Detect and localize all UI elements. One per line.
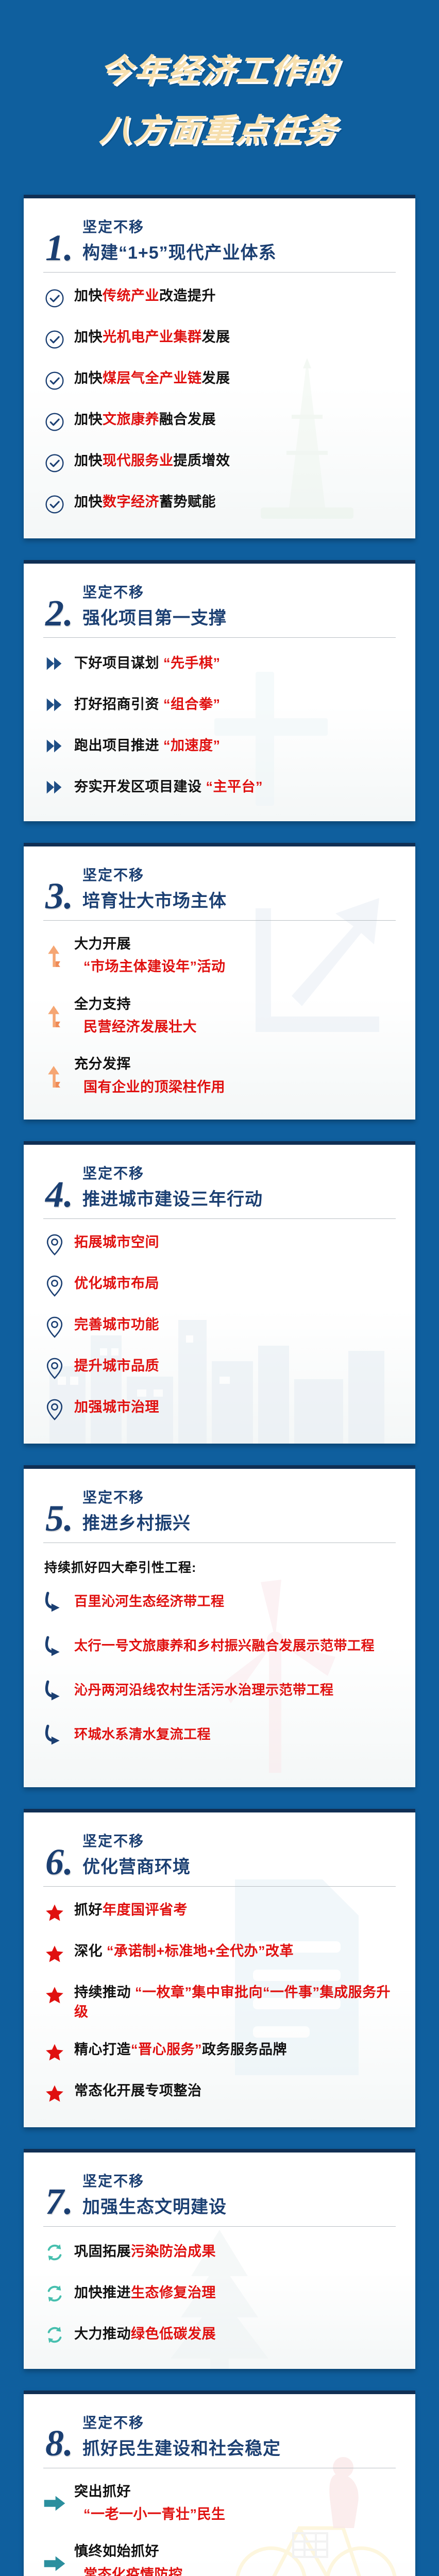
list-item-highlight: 优化城市布局	[74, 1276, 159, 1291]
check-circle-icon	[43, 452, 66, 474]
list-item[interactable]: 百里沁河生态经济带工程	[41, 1589, 398, 1613]
section-title-group: 坚定不移 推进乡村振兴	[82, 1486, 191, 1535]
section-card-1: 1. 坚定不移 构建“1+5”现代产业体系 加快传统产业改造提升 加快光机电产业…	[24, 195, 415, 538]
list-item-lead: 突出抓好	[74, 2482, 226, 2501]
list-item-highlight: “先手棋”	[163, 655, 221, 671]
list-item-text: 加强城市治理	[74, 1397, 159, 1417]
list-item[interactable]: 加强城市治理	[41, 1397, 398, 1421]
list-item-text: 精心打造“晋心服务”政务服务品牌	[74, 2040, 287, 2059]
section-card-7: 7. 坚定不移 加强生态文明建设 巩固拓展污染防治成果 加快推进生态修复治理 大…	[24, 2149, 415, 2369]
orange-up-arrow-icon	[43, 1065, 66, 1088]
list-item-plain: 加快	[74, 412, 103, 427]
list-item-text: 大力开展“市场主体建设年”活动	[74, 934, 226, 977]
list-item[interactable]: 加快光机电产业集群发展	[41, 327, 398, 351]
list-item-highlight: 加强城市治理	[74, 1399, 159, 1415]
list-item-highlight: “晋心服务”	[131, 2042, 202, 2057]
section-divider	[43, 1218, 396, 1219]
section-header: 4. 坚定不移 推进城市建设三年行动	[41, 1162, 398, 1211]
section-title-primary: 坚定不移	[82, 581, 227, 602]
teal-right-arrow-icon	[43, 2492, 66, 2515]
section-title-primary: 坚定不移	[82, 864, 227, 885]
list-item-text: 加快光机电产业集群发展	[74, 327, 230, 347]
list-item-highlight: 污染防治成果	[131, 2244, 216, 2259]
list-item-plain: 加快	[74, 370, 103, 386]
list-item-text: 拓展城市空间	[74, 1232, 159, 1252]
section-number: 4.	[45, 1179, 73, 1211]
list-item[interactable]: 加快文旅康养融合发展	[41, 410, 398, 433]
list-item[interactable]: 加快现代服务业提质增效	[41, 451, 398, 474]
list-item-text: 巩固拓展污染防治成果	[74, 2242, 216, 2261]
check-circle-icon	[43, 411, 66, 433]
hero-title-line-2: 八方面重点任务	[98, 104, 341, 150]
section-title-group: 坚定不移 优化营商环境	[82, 1830, 191, 1879]
list-item-text: 突出抓好“一老一小一青壮”民生	[74, 2482, 226, 2524]
list-item-body: 民营经济发展壮大	[74, 1017, 197, 1037]
red-star-icon	[43, 1984, 66, 2006]
section-card-2: 2. 坚定不移 强化项目第一支撑 下好项目谋划 “先手棋” 打好招商引资 “组合…	[24, 560, 415, 821]
list-item[interactable]: 沁丹两河沿线农村生活污水治理示范带工程	[41, 1678, 398, 1702]
section-divider	[43, 920, 396, 921]
map-pin-icon	[43, 1357, 66, 1380]
list-item-text: 跑出项目推进 “加速度”	[74, 736, 221, 755]
list-item[interactable]: 大力推动绿色低碳发展	[41, 2323, 398, 2346]
list-item[interactable]: 深化 “承诺制+标准地+全代办”改革	[41, 1941, 398, 1965]
list-item-lead: 充分发挥	[74, 1054, 225, 1074]
list-item-plain: 加快	[74, 494, 103, 510]
list-item-highlight: 生态修复治理	[131, 2285, 216, 2300]
list-item-highlight: “组合拳”	[163, 697, 221, 712]
list-item-text: 充分发挥国有企业的顶梁柱作用	[74, 1054, 225, 1097]
list-item-text: 加快传统产业改造提升	[74, 286, 216, 306]
list-item[interactable]: 充分发挥国有企业的顶梁柱作用	[41, 1054, 398, 1097]
section-item-list: 百里沁河生态经济带工程 太行一号文旅康养和乡村振兴融合发展示范带工程 沁丹两河沿…	[41, 1589, 398, 1746]
list-item-plain: 加快	[74, 453, 103, 468]
section-title-primary: 坚定不移	[82, 2412, 281, 2432]
section-divider	[43, 272, 396, 273]
list-item[interactable]: 巩固拓展污染防治成果	[41, 2240, 398, 2264]
section-title-primary: 坚定不移	[82, 1162, 263, 1183]
list-item-text: 加快煤层气全产业链发展	[74, 368, 230, 388]
list-item-plain: 加快	[74, 288, 103, 303]
recycle-arrows-icon	[43, 2324, 66, 2346]
list-item[interactable]: 大力开展“市场主体建设年”活动	[41, 934, 398, 977]
section-item-list: 下好项目谋划 “先手棋” 打好招商引资 “组合拳” 跑出项目推进 “加速度” 夯…	[41, 651, 398, 799]
list-item[interactable]: 跑出项目推进 “加速度”	[41, 734, 398, 757]
section-title-secondary: 培育壮大市场主体	[82, 887, 227, 912]
list-item[interactable]: 加快推进生态修复治理	[41, 2281, 398, 2305]
list-item[interactable]: 全力支持民营经济发展壮大	[41, 994, 398, 1037]
map-pin-icon	[43, 1233, 66, 1256]
list-item-text: 加快数字经济蓄势赋能	[74, 492, 216, 512]
orange-up-arrow-icon	[43, 1005, 66, 1027]
section-title-primary: 坚定不移	[82, 216, 277, 236]
section-divider	[43, 637, 396, 638]
check-circle-icon	[43, 328, 66, 351]
section-item-list: 加快传统产业改造提升 加快光机电产业集群发展 加快煤层气全产业链发展 加快文旅康…	[41, 286, 398, 516]
double-chevron-icon	[43, 693, 66, 716]
section-title-primary: 坚定不移	[82, 1830, 191, 1851]
sections-container: 1. 坚定不移 构建“1+5”现代产业体系 加快传统产业改造提升 加快光机电产业…	[0, 195, 439, 2576]
list-item[interactable]: 下好项目谋划 “先手棋”	[41, 651, 398, 675]
section-divider	[43, 1543, 396, 1543]
list-item-plain: 加快推进	[74, 2285, 131, 2300]
list-item[interactable]: 加快传统产业改造提升	[41, 286, 398, 310]
list-item-text: 加快现代服务业提质增效	[74, 451, 230, 470]
check-circle-icon	[43, 369, 66, 392]
curved-arrow-icon	[43, 1723, 66, 1746]
list-item-plain: 持续推动	[74, 1985, 135, 2000]
list-item-tail: 融合发展	[159, 412, 216, 427]
list-item-lead: 全力支持	[74, 994, 197, 1014]
list-item-lead: 大力开展	[74, 934, 226, 954]
section-title-secondary: 推进城市建设三年行动	[82, 1185, 263, 1210]
list-item-text: 慎终如始抓好常态化疫情防控	[74, 2541, 183, 2576]
list-item-text: 大力推动绿色低碳发展	[74, 2324, 216, 2344]
list-item-text: 加快文旅康养融合发展	[74, 410, 216, 429]
list-item[interactable]: 精心打造“晋心服务”政务服务品牌	[41, 2040, 398, 2063]
section-divider	[43, 2226, 396, 2227]
list-item[interactable]: 拓展城市空间	[41, 1232, 398, 1256]
list-item-text: 夯实开发区项目建设 “主平台”	[74, 777, 263, 796]
list-item-tail: 提质增效	[174, 453, 230, 468]
list-item-highlight: “承诺制+标准地+全代办”改革	[107, 1943, 294, 1959]
section-header: 2. 坚定不移 强化项目第一支撑	[41, 581, 398, 630]
list-item-text: 加快推进生态修复治理	[74, 2283, 216, 2302]
section-card-4: 4. 坚定不移 推进城市建设三年行动 拓展城市空间 优化城市布局 完善城市功能 …	[24, 1141, 415, 1444]
section-item-list: 突出抓好“一老一小一青壮”民生 慎终如始抓好常态化疫情防控 坚决守牢安全生产底线…	[41, 2482, 398, 2576]
section-card-8: 8. 坚定不移 抓好民生建设和社会稳定 突出抓好“一老一小一青壮”民生 慎终如始…	[24, 2391, 415, 2576]
section-title-secondary: 强化项目第一支撑	[82, 604, 227, 629]
section-number: 5.	[45, 1503, 73, 1535]
list-item-highlight: “加速度”	[163, 738, 221, 753]
red-star-icon	[43, 2082, 66, 2105]
curved-arrow-icon	[43, 1635, 66, 1657]
list-item[interactable]: 持续推动 “一枚章”集中审批向“一件事”集成服务升级	[41, 1982, 398, 2022]
hero-title-line-1: 今年经济工作的	[98, 44, 341, 91]
double-chevron-icon	[43, 735, 66, 757]
list-item-highlight: 提升城市品质	[74, 1358, 159, 1374]
list-item-text: 提升城市品质	[74, 1356, 159, 1376]
red-star-icon	[43, 1901, 66, 1924]
section-title-secondary: 优化营商环境	[82, 1853, 191, 1878]
list-item-text: 下好项目谋划 “先手棋”	[74, 653, 221, 673]
section-card-6: 6. 坚定不移 优化营商环境 抓好年度国评省考 深化 “承诺制+标准地+全代办”…	[24, 1809, 415, 2127]
check-circle-icon	[43, 287, 66, 310]
section-title-group: 坚定不移 加强生态文明建设	[82, 2170, 227, 2219]
list-item-plain: 大力推动	[74, 2326, 131, 2342]
list-item-highlight: 拓展城市空间	[74, 1234, 159, 1250]
section-title-secondary: 构建“1+5”现代产业体系	[82, 239, 277, 264]
list-item-text: 沁丹两河沿线农村生活污水治理示范带工程	[74, 1681, 334, 1700]
double-chevron-icon	[43, 776, 66, 799]
infographic-poster: 今年经济工作的 八方面重点任务 1. 坚定不移 构建“1+5”现代产业体系 加快…	[0, 0, 439, 2576]
section-divider	[43, 1886, 396, 1887]
map-pin-icon	[43, 1398, 66, 1421]
list-item-text: 深化 “承诺制+标准地+全代办”改革	[74, 1941, 294, 1961]
section-header: 8. 坚定不移 抓好民生建设和社会稳定	[41, 2412, 398, 2461]
list-item-tail: 改造提升	[159, 288, 216, 303]
section-title-secondary: 推进乡村振兴	[82, 1509, 191, 1534]
list-item[interactable]: 夯实开发区项目建设 “主平台”	[41, 775, 398, 799]
list-item-plain: 加快	[74, 329, 103, 345]
list-item[interactable]: 加快数字经济蓄势赋能	[41, 492, 398, 516]
section-number: 6.	[45, 1846, 73, 1879]
list-item-text: 全力支持民营经济发展壮大	[74, 994, 197, 1037]
list-item[interactable]: 打好招商引资 “组合拳”	[41, 692, 398, 716]
recycle-arrows-icon	[43, 2282, 66, 2305]
section-item-list: 大力开展“市场主体建设年”活动 全力支持民营经济发展壮大 充分发挥国有企业的顶梁…	[41, 934, 398, 1097]
list-item-plain: 深化	[74, 1943, 107, 1959]
section-title-group: 坚定不移 培育壮大市场主体	[82, 864, 227, 913]
section-header: 6. 坚定不移 优化营商环境	[41, 1830, 398, 1879]
section-item-list: 抓好年度国评省考 深化 “承诺制+标准地+全代办”改革 持续推动 “一枚章”集中…	[41, 1900, 398, 2105]
section-header: 7. 坚定不移 加强生态文明建设	[41, 2170, 398, 2219]
list-item[interactable]: 抓好年度国评省考	[41, 1900, 398, 1924]
list-item-text: 常态化开展专项整治	[74, 2081, 202, 2100]
section-card-5: 5. 坚定不移 推进乡村振兴 持续抓好四大牵引性工程: 百里沁河生态经济带工程 …	[24, 1465, 415, 1787]
section-item-list: 拓展城市空间 优化城市布局 完善城市功能 提升城市品质 加强城市治理	[41, 1232, 398, 1421]
red-star-icon	[43, 2041, 66, 2063]
list-item-tail: 发展	[202, 370, 230, 386]
list-item-highlight: 百里沁河生态经济带工程	[74, 1594, 225, 1609]
list-item[interactable]: 优化城市布局	[41, 1274, 398, 1297]
list-item[interactable]: 慎终如始抓好常态化疫情防控	[41, 2541, 398, 2576]
section-header: 3. 坚定不移 培育壮大市场主体	[41, 864, 398, 913]
list-item-text: 环城水系清水复流工程	[74, 1725, 211, 1744]
double-chevron-icon	[43, 652, 66, 675]
list-item-lead: 慎终如始抓好	[74, 2541, 183, 2561]
list-item-highlight: 环城水系清水复流工程	[74, 1726, 211, 1742]
section-number: 8.	[45, 2428, 73, 2460]
curved-arrow-icon	[43, 1679, 66, 1702]
list-item[interactable]: 环城水系清水复流工程	[41, 1722, 398, 1746]
list-item-highlight: 完善城市功能	[74, 1317, 159, 1332]
list-item-body: 常态化疫情防控	[74, 2565, 183, 2576]
list-item-highlight: 绿色低碳发展	[131, 2326, 216, 2342]
teal-right-arrow-icon	[43, 2552, 66, 2575]
section-card-3: 3. 坚定不移 培育壮大市场主体 大力开展“市场主体建设年”活动 全力支持民营经…	[24, 843, 415, 1120]
check-circle-icon	[43, 493, 66, 516]
section-title-primary: 坚定不移	[82, 1486, 191, 1507]
section-title-secondary: 抓好民生建设和社会稳定	[82, 2434, 281, 2460]
list-item-text: 百里沁河生态经济带工程	[74, 1592, 225, 1611]
list-item-plain: 巩固拓展	[74, 2244, 131, 2259]
section-header: 5. 坚定不移 推进乡村振兴	[41, 1486, 398, 1535]
curved-arrow-icon	[43, 1590, 66, 1613]
list-item-text: 持续推动 “一枚章”集中审批向“一件事”集成服务升级	[74, 1982, 398, 2022]
list-item-text: 抓好年度国评省考	[74, 1900, 188, 1920]
list-item-plain: 下好项目谋划	[74, 655, 163, 671]
list-item-highlight: 传统产业	[103, 288, 159, 303]
hero-banner: 今年经济工作的 八方面重点任务	[0, 0, 439, 195]
list-item[interactable]: 常态化开展专项整治	[41, 2081, 398, 2105]
list-item-tail: 发展	[202, 329, 230, 345]
list-item-highlight: 太行一号文旅康养和乡村振兴融合发展示范带工程	[74, 1638, 375, 1653]
map-pin-icon	[43, 1316, 66, 1338]
list-item-plain: 常态化开展专项整治	[74, 2083, 202, 2098]
list-item-text: 优化城市布局	[74, 1274, 159, 1293]
list-item-body: “市场主体建设年”活动	[74, 957, 226, 976]
section-number: 2.	[45, 598, 73, 630]
section-title-group: 坚定不移 构建“1+5”现代产业体系	[82, 216, 277, 265]
list-item-body: 国有企业的顶梁柱作用	[74, 1077, 225, 1097]
section-divider	[43, 2468, 396, 2468]
list-item-highlight: “主平台”	[206, 779, 263, 794]
orange-up-arrow-icon	[43, 944, 66, 967]
list-item-plain: 精心打造	[74, 2042, 131, 2057]
list-item-plain: 打好招商引资	[74, 697, 163, 712]
section-item-list: 巩固拓展污染防治成果 加快推进生态修复治理 大力推动绿色低碳发展	[41, 2240, 398, 2346]
list-item-highlight: 煤层气全产业链	[103, 370, 202, 386]
list-item-body: “一老一小一青壮”民生	[74, 2504, 226, 2524]
list-item-text: 完善城市功能	[74, 1315, 159, 1334]
list-item[interactable]: 突出抓好“一老一小一青壮”民生	[41, 2482, 398, 2524]
section-subtitle: 持续抓好四大牵引性工程:	[44, 1557, 398, 1576]
section-title-group: 坚定不移 推进城市建设三年行动	[82, 1162, 263, 1211]
section-number: 7.	[45, 2186, 73, 2218]
list-item[interactable]: 加快煤层气全产业链发展	[41, 368, 398, 392]
section-title-primary: 坚定不移	[82, 2170, 227, 2191]
section-number: 1.	[45, 232, 73, 265]
list-item[interactable]: 提升城市品质	[41, 1356, 398, 1380]
list-item-plain: 抓好	[74, 1902, 103, 1918]
map-pin-icon	[43, 1275, 66, 1297]
list-item-plain: 跑出项目推进	[74, 738, 163, 753]
red-star-icon	[43, 1942, 66, 1965]
section-title-secondary: 加强生态文明建设	[82, 2193, 227, 2218]
list-item-highlight: 数字经济	[103, 494, 159, 510]
section-header: 1. 坚定不移 构建“1+5”现代产业体系	[41, 216, 398, 265]
list-item-text: 太行一号文旅康养和乡村振兴融合发展示范带工程	[74, 1636, 375, 1655]
list-item-highlight: 文旅康养	[103, 412, 159, 427]
section-title-group: 坚定不移 抓好民生建设和社会稳定	[82, 2412, 281, 2461]
list-item-highlight: 年度国评省考	[103, 1902, 188, 1918]
list-item[interactable]: 完善城市功能	[41, 1315, 398, 1338]
list-item-text: 打好招商引资 “组合拳”	[74, 694, 221, 714]
list-item[interactable]: 太行一号文旅康养和乡村振兴融合发展示范带工程	[41, 1634, 398, 1657]
list-item-tail: 政务服务品牌	[202, 2042, 287, 2057]
recycle-arrows-icon	[43, 2241, 66, 2264]
list-item-highlight: 现代服务业	[103, 453, 174, 468]
list-item-tail: 蓄势赋能	[159, 494, 216, 510]
list-item-highlight: 沁丹两河沿线农村生活污水治理示范带工程	[74, 1682, 334, 1698]
list-item-plain: 夯实开发区项目建设	[74, 779, 206, 794]
section-number: 3.	[45, 880, 73, 913]
section-title-group: 坚定不移 强化项目第一支撑	[82, 581, 227, 630]
list-item-highlight: 光机电产业集群	[103, 329, 202, 345]
